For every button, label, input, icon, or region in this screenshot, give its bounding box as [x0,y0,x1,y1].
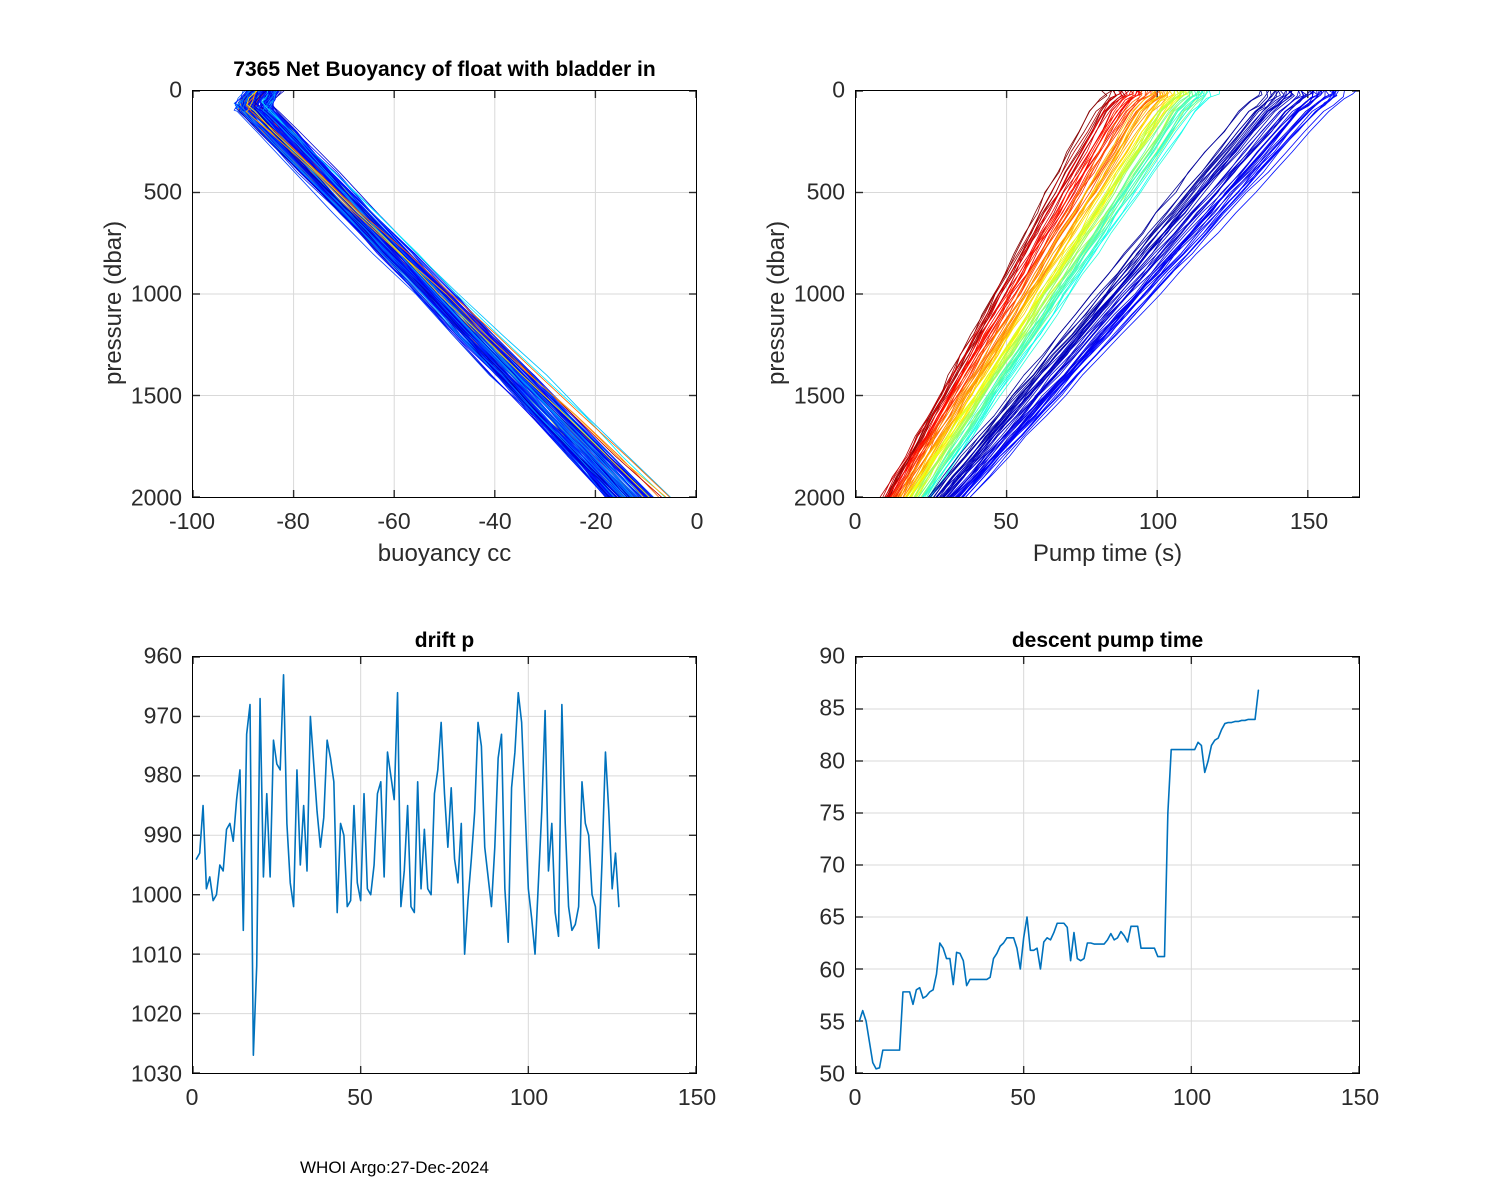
pumptime-xtick-3: 150 [1290,508,1328,535]
driftp-ytick-0: 960 [100,643,182,670]
descent-ytick-5: 75 [783,799,845,826]
pumptime-xtick-1: 50 [993,508,1019,535]
pumptime-xtick-0: 0 [849,508,862,535]
driftp-title: drift p [192,629,697,653]
descent-ytick-0: 50 [783,1061,845,1088]
driftp-plot-area [192,656,697,1074]
pumptime-ytick-4: 2000 [773,485,845,512]
descent-ytick-4: 70 [783,852,845,879]
driftp-ytick-4: 1000 [100,881,182,908]
descent-ytick-8: 90 [783,643,845,670]
matlab-figure: 7365 Net Buoyancy of float with bladder … [0,0,1500,1200]
panel-descent: descent pump time 90 85 80 75 70 65 60 5… [750,600,1500,1200]
driftp-xtick-0: 0 [186,1084,199,1111]
driftp-ytick-2: 980 [100,762,182,789]
buoyancy-xtick-4: -20 [579,508,612,535]
buoyancy-ytick-3: 1500 [110,383,182,410]
panel-pumptime: 0 500 1000 1500 2000 0 50 100 150 Pump t… [750,0,1500,600]
pumptime-plot-area [855,90,1360,498]
panel-buoyancy: 7365 Net Buoyancy of float with bladder … [0,0,750,600]
buoyancy-xtick-5: 0 [691,508,704,535]
descent-xtick-3: 150 [1341,1084,1379,1111]
pumptime-ytick-1: 500 [773,179,845,206]
driftp-ytick-1: 970 [100,702,182,729]
driftp-xtick-1: 50 [347,1084,373,1111]
pumptime-xtick-2: 100 [1139,508,1177,535]
driftp-xtick-3: 150 [678,1084,716,1111]
buoyancy-xtick-0: -100 [169,508,215,535]
buoyancy-plot-area [192,90,697,498]
driftp-xtick-2: 100 [510,1084,548,1111]
buoyancy-xtick-3: -40 [478,508,511,535]
driftp-ytick-3: 990 [100,822,182,849]
pumptime-ylabel: pressure (dbar) [763,221,791,385]
descent-ytick-6: 80 [783,747,845,774]
descent-xtick-1: 50 [1010,1084,1036,1111]
descent-plot-area [855,656,1360,1074]
descent-ytick-7: 85 [783,695,845,722]
driftp-ytick-5: 1010 [100,941,182,968]
panel-driftp: drift p 960 970 980 990 1000 1010 1020 1… [0,600,750,1200]
buoyancy-xtick-2: -60 [377,508,410,535]
descent-title: descent pump time [855,629,1360,653]
descent-xtick-0: 0 [849,1084,862,1111]
buoyancy-ytick-1: 500 [110,179,182,206]
driftp-ytick-7: 1030 [100,1061,182,1088]
pumptime-ytick-3: 1500 [773,383,845,410]
descent-ytick-3: 65 [783,904,845,931]
pumptime-xlabel: Pump time (s) [855,540,1360,568]
descent-ytick-2: 60 [783,956,845,983]
pumptime-ytick-0: 0 [773,77,845,104]
figure-footer: WHOI Argo:27-Dec-2024 [300,1158,489,1178]
buoyancy-xlabel: buoyancy cc [192,540,697,568]
descent-xtick-2: 100 [1173,1084,1211,1111]
buoyancy-title: 7365 Net Buoyancy of float with bladder … [192,58,697,82]
buoyancy-ylabel: pressure (dbar) [100,221,128,385]
buoyancy-ytick-0: 0 [110,77,182,104]
driftp-ytick-6: 1020 [100,1001,182,1028]
descent-ytick-1: 55 [783,1008,845,1035]
buoyancy-xtick-1: -80 [276,508,309,535]
